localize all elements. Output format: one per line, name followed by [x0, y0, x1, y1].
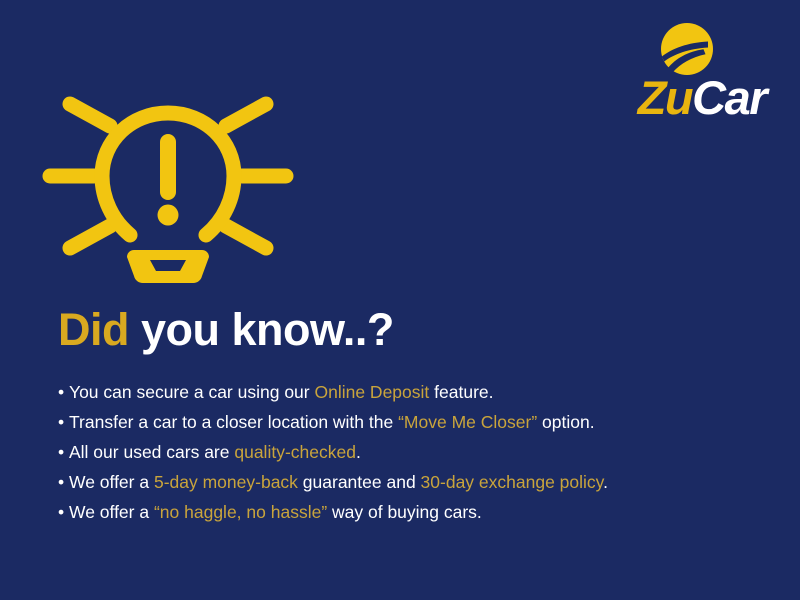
page-title: Did you know..? — [58, 305, 394, 355]
brand-wordmark-car: Car — [692, 71, 766, 124]
list-item-highlight: Online Deposit — [314, 382, 429, 402]
list-item: •All our used cars are quality-checked. — [58, 437, 758, 467]
list-item-highlight: “no haggle, no hassle” — [154, 502, 327, 522]
list-item-run: . — [603, 472, 608, 492]
zucar-circle-swoosh-logo-icon — [660, 22, 714, 76]
list-item: •You can secure a car using our Online D… — [58, 377, 758, 407]
bullet-marker-icon: • — [58, 467, 69, 497]
bullet-marker-icon: • — [58, 437, 69, 467]
list-item-run: feature. — [429, 382, 493, 402]
list-item-text: We offer a “no haggle, no hassle” way of… — [69, 497, 482, 527]
page-title-highlight: Did — [58, 304, 129, 355]
facts-list: •You can secure a car using our Online D… — [58, 377, 758, 527]
list-item-highlight: 30-day exchange policy — [421, 472, 604, 492]
list-item: •We offer a “no haggle, no hassle” way o… — [58, 497, 758, 527]
list-item-text: You can secure a car using our Online De… — [69, 377, 494, 407]
page-title-rest: you know..? — [141, 304, 394, 355]
brand-wordmark: ZuCar — [586, 74, 766, 121]
list-item-run: We offer a — [69, 472, 154, 492]
list-item-highlight: quality-checked — [234, 442, 356, 462]
slide-canvas: ZuCar Did you know. — [0, 0, 800, 600]
list-item-text: Transfer a car to a closer location with… — [69, 407, 595, 437]
bullet-marker-icon: • — [58, 377, 69, 407]
brand-wordmark-zu: Zu — [638, 71, 692, 124]
bullet-marker-icon: • — [58, 497, 69, 527]
list-item-run: guarantee and — [298, 472, 421, 492]
list-item-highlight: 5-day money-back — [154, 472, 298, 492]
list-item: •Transfer a car to a closer location wit… — [58, 407, 758, 437]
lightbulb-exclamation-icon — [42, 72, 294, 292]
bullet-marker-icon: • — [58, 407, 69, 437]
list-item: •We offer a 5-day money-back guarantee a… — [58, 467, 758, 497]
list-item-text: All our used cars are quality-checked. — [69, 437, 361, 467]
list-item-run: Transfer a car to a closer location with… — [69, 412, 398, 432]
list-item-text: We offer a 5-day money-back guarantee an… — [69, 467, 608, 497]
list-item-run: All our used cars are — [69, 442, 234, 462]
list-item-run: . — [356, 442, 361, 462]
brand-logo: ZuCar — [586, 22, 766, 127]
list-item-highlight: “Move Me Closer” — [398, 412, 537, 432]
list-item-run: We offer a — [69, 502, 154, 522]
list-item-run: way of buying cars. — [327, 502, 482, 522]
list-item-run: option. — [537, 412, 594, 432]
list-item-run: You can secure a car using our — [69, 382, 314, 402]
